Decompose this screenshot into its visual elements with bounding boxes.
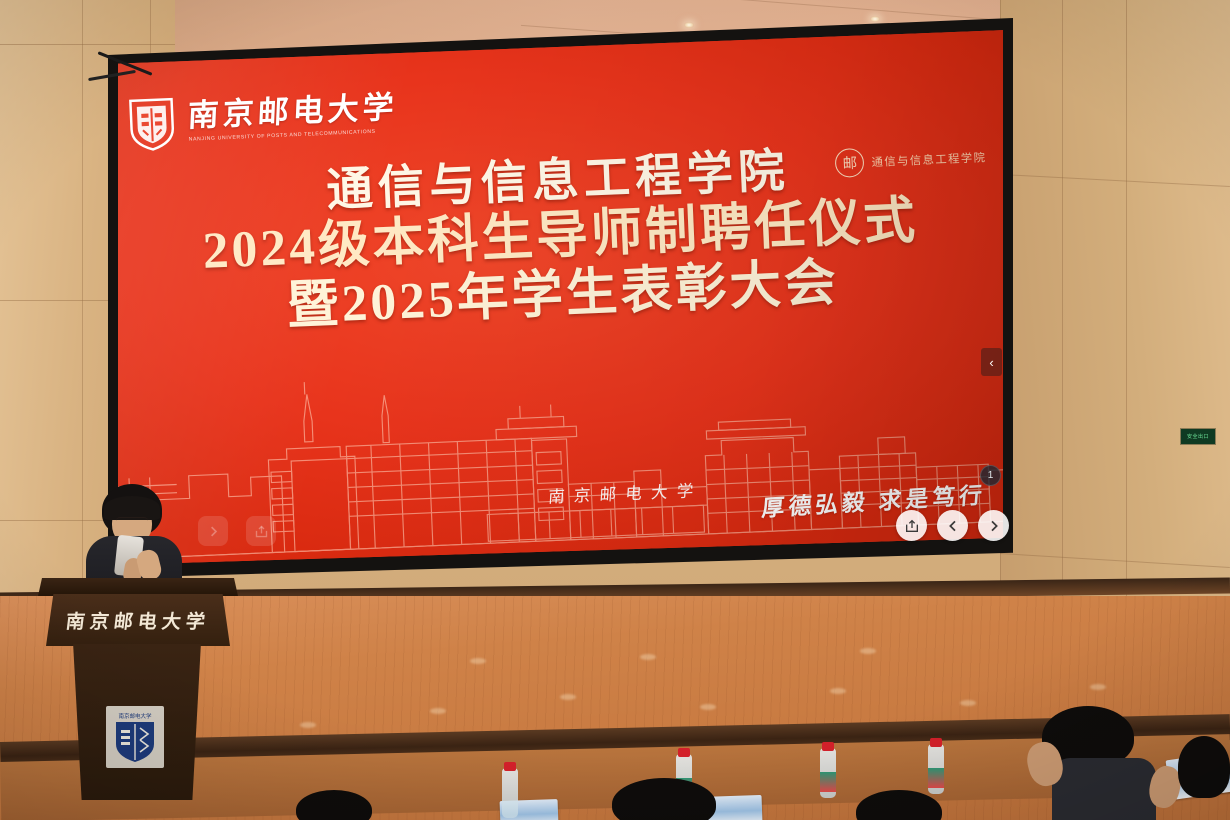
share-button[interactable] xyxy=(896,510,927,541)
share-button-ghost[interactable] xyxy=(246,516,276,546)
audience-head xyxy=(1178,736,1230,798)
podium: 南京邮电大学 南京邮电大学 xyxy=(38,578,238,818)
floor-reflection xyxy=(830,688,846,694)
water-bottle xyxy=(502,768,518,818)
ceiling-downlight xyxy=(684,22,694,28)
floor-reflection xyxy=(1090,684,1106,690)
podium-inscription: 南京邮电大学 xyxy=(64,607,211,634)
floor-reflection xyxy=(960,700,976,706)
bottle-cap xyxy=(822,742,834,751)
university-shield-emblem: 南京邮电大学 xyxy=(106,706,164,768)
floor-reflection xyxy=(700,704,716,710)
floor-reflection xyxy=(470,658,486,664)
sidebar-toggle-tab[interactable]: ‹ xyxy=(981,348,1002,376)
page-number-badge[interactable]: 1 xyxy=(980,465,1001,486)
bottle-cap xyxy=(678,748,690,757)
exit-sign-text: 安全出口 xyxy=(1187,433,1209,440)
share-icon xyxy=(254,524,269,539)
floor-reflection xyxy=(860,648,876,654)
share-icon xyxy=(904,518,920,534)
ceiling-downlight xyxy=(870,16,880,22)
podium-front-panel: 南京邮电大学 xyxy=(46,594,230,646)
chevron-left-icon: ‹ xyxy=(989,355,993,370)
emergency-exit-sign: 安全出口 xyxy=(1180,428,1216,445)
chevron-left-icon xyxy=(945,518,961,534)
player-controls xyxy=(896,510,1009,541)
floor-reflection xyxy=(430,708,446,714)
chevron-right-icon xyxy=(986,518,1002,534)
svg-text:南京邮电大学: 南京邮电大学 xyxy=(118,712,152,720)
bottle-label xyxy=(820,772,836,792)
floor-reflection xyxy=(640,654,656,660)
bottle-label xyxy=(928,768,944,788)
screenshot-root: 安全出口 xyxy=(0,0,1230,820)
led-screen: 南京邮电大学 NANJING UNIVERSITY OF POSTS AND T… xyxy=(118,28,1003,568)
bottle-cap xyxy=(930,738,942,747)
next-button[interactable] xyxy=(978,510,1009,541)
podium-top xyxy=(38,578,238,596)
floor-reflection xyxy=(560,694,576,700)
floor-reflection xyxy=(300,722,316,728)
speaker-glasses xyxy=(116,517,148,526)
bottle-cap xyxy=(504,762,516,771)
next-button-ghost[interactable] xyxy=(198,516,228,546)
chevron-right-icon xyxy=(206,524,221,539)
screen-glare xyxy=(118,28,1003,568)
audience-shoulders xyxy=(1052,758,1156,820)
previous-button[interactable] xyxy=(937,510,968,541)
